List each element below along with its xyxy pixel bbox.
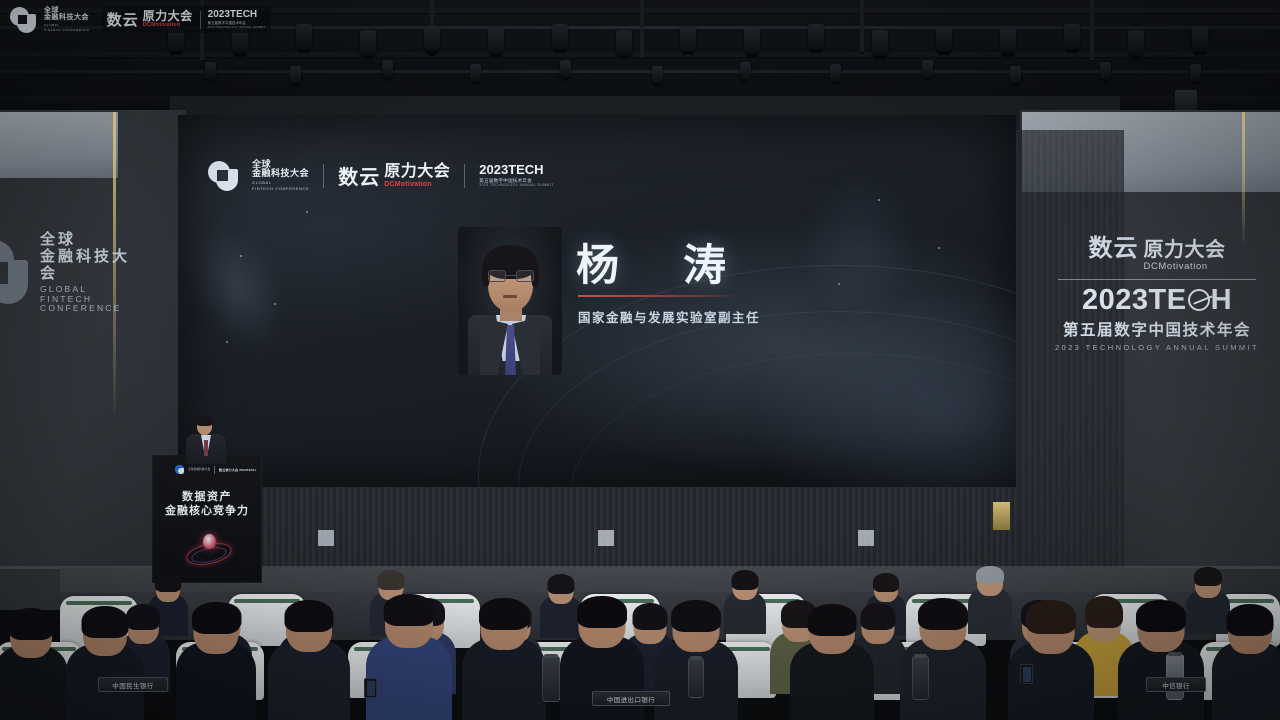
audience-member	[1212, 610, 1280, 720]
podium-gfc-mark	[175, 465, 184, 474]
podium-logo-cn: 全球金融科技大会	[188, 468, 210, 472]
right-banner-tech-main: 2023TE	[1082, 284, 1187, 317]
right-banner-tech: 2023TE H	[1082, 284, 1232, 317]
seat-name-card: 中国进出口银行	[592, 691, 670, 706]
water-bottle	[688, 658, 704, 698]
audience-member	[176, 608, 256, 720]
audience-member	[268, 606, 350, 720]
overlay-gfc-text: 全球 金融科技大会 GLOBAL FINTECH CONFERENCE	[44, 7, 90, 32]
stage-spotlight	[1128, 30, 1144, 56]
stage-spotlight	[1000, 28, 1016, 54]
stage-spotlight	[470, 64, 481, 82]
overlay-dc-sub-cn: 原力大会	[143, 10, 193, 22]
conference-hall-photo: 全球 金融科技大会 GLOBAL FINTECH CONFERENCE 数云 原…	[0, 0, 1280, 720]
tech-summit-logo: 2023TECH 第五届数字中国技术年会 2023 TECHNOLOGY ANN…	[479, 163, 553, 188]
stage-spotlight	[936, 26, 952, 52]
stage-spotlight	[488, 28, 504, 54]
gfc-logo-mark-large	[0, 240, 30, 306]
left-banner-cn1: 全球	[40, 232, 146, 249]
audience-member	[790, 610, 874, 720]
stage-spotlight	[830, 64, 841, 82]
overlay-gfc-mark	[10, 7, 36, 33]
right-banner-en-sub: DCMotivation	[1144, 262, 1226, 272]
stage-spotlight	[744, 28, 760, 54]
audience-member	[66, 612, 144, 720]
stage-spotlight	[1100, 62, 1111, 80]
seat-name-card: 中信银行	[1146, 677, 1206, 692]
gfc-en-line1: GLOBAL	[252, 181, 309, 185]
broadcast-logo-overlay: 全球 金融科技大会 GLOBAL FINTECH CONFERENCE 数云 原…	[10, 6, 271, 33]
podium-logo-secondary: 数云原力大会 2023TECH	[219, 468, 256, 472]
speaker-name: 杨 涛	[576, 231, 752, 293]
overlay-tech-en: 2023 TECHNOLOGY ANNUAL SUMMIT	[208, 27, 266, 30]
stage-spotlight	[296, 24, 312, 50]
live-speaker-at-podium	[182, 418, 230, 462]
audience-member	[366, 600, 452, 720]
gfc-logo-text: 全球 金融科技大会 GLOBAL FINTECH CONFERENCE	[252, 160, 309, 191]
dc-sub-en: DCMotivation	[384, 181, 450, 188]
stage-spotlight	[740, 62, 751, 80]
smartphone	[1020, 664, 1033, 684]
ceiling-light-panel-left	[0, 112, 118, 178]
glasses-icon	[488, 270, 534, 282]
logo-divider	[464, 164, 465, 188]
gfc-logo-mark	[208, 161, 238, 191]
gfc-cn-line2: 金融科技大会	[252, 169, 309, 178]
stage-spotlight	[872, 30, 888, 56]
audience-member	[462, 604, 546, 720]
water-bottle	[912, 656, 929, 700]
stage-spotlight	[205, 62, 216, 80]
screen-logo-bar: 全球 金融科技大会 GLOBAL FINTECH CONFERENCE 数云 原…	[208, 160, 554, 191]
overlay-en2: FINTECH CONFERENCE	[44, 29, 90, 32]
tech-year: 2023TECH	[479, 163, 553, 177]
swirl-c-icon	[1188, 289, 1210, 311]
overlay-dc-cn: 数云	[107, 9, 139, 30]
audience-area: 中国民生银行 中国进出口银行 中信银行	[0, 520, 1280, 720]
overlay-dc-sub-en: DCMotivation	[143, 23, 193, 29]
stage-spotlight	[1192, 26, 1208, 52]
right-banner-tech-tail: H	[1211, 284, 1232, 317]
stage-spotlight	[1190, 64, 1201, 82]
dc-sub-cn: 原力大会	[384, 164, 450, 180]
logo-divider	[323, 164, 324, 188]
stage-spotlight	[424, 26, 440, 52]
stage-spotlight	[1064, 24, 1080, 50]
water-bottle	[542, 656, 560, 702]
gfc-en-line2: FINTECH CONFERENCE	[252, 187, 309, 191]
right-banner-summit-cn: 第五届数字中国技术年会	[1063, 318, 1251, 340]
stage-spotlight	[616, 30, 632, 56]
left-banner-en2: FINTECH CONFERENCE	[40, 295, 146, 314]
stage-spotlight	[808, 24, 824, 50]
audience-member	[0, 614, 68, 720]
right-wall-banner: 数云 原力大会 DCMotivation 2023TE H 第五届数字中国技术年…	[1050, 228, 1264, 352]
podium-logo-row: 全球金融科技大会 数云原力大会 2023TECH	[175, 465, 256, 474]
dc-cn: 数云	[338, 161, 380, 190]
stage-spotlight	[552, 24, 568, 50]
wall-light-strip-right-a	[1242, 112, 1245, 242]
screen-nebula-left	[180, 214, 298, 363]
speaker-name-underline	[578, 295, 738, 297]
stage-spotlight	[360, 30, 376, 56]
speaker-title: 国家金融与发展实验室副主任	[578, 307, 760, 326]
seat-name-card: 中国民生银行	[98, 677, 168, 692]
audience-member	[1118, 606, 1204, 720]
podium-headline-2: 金融核心竞争力	[153, 502, 261, 518]
right-banner-summit-en: 2023 TECHNOLOGY ANNUAL SUMMIT	[1055, 343, 1259, 352]
stage-spotlight	[922, 60, 933, 78]
stage-spotlight	[1010, 66, 1021, 84]
right-banner-cn-sub: 原力大会	[1144, 240, 1226, 260]
stage-spotlight	[560, 60, 571, 78]
left-banner-cn2: 金融科技大会	[40, 249, 146, 283]
overlay-tech-year: 2023TECH	[208, 10, 266, 21]
podium-logo-divider	[214, 466, 215, 474]
main-led-screen: 全球 金融科技大会 GLOBAL FINTECH CONFERENCE 数云 原…	[178, 115, 1016, 487]
right-banner-divider	[1058, 279, 1256, 280]
tech-sub-en: 2023 TECHNOLOGY ANNUAL SUMMIT	[479, 184, 553, 188]
smartphone	[364, 678, 377, 698]
stage-spotlight	[382, 60, 393, 78]
dcmotivation-logo: 数云 原力大会 DCMotivation	[338, 161, 450, 190]
dc-sub: 原力大会 DCMotivation	[384, 164, 450, 188]
stage-spotlight	[290, 66, 301, 84]
right-banner-cn-main: 数云	[1089, 228, 1139, 263]
overlay-en1: GLOBAL	[44, 24, 90, 27]
overlay-dcmotivation-logo: 数云 原力大会 DCMotivation 2023TECH 第五届数字中国技术年…	[102, 6, 271, 33]
overlay-cn2: 金融科技大会	[44, 14, 90, 21]
speaker-portrait	[458, 227, 562, 375]
stage-spotlight	[680, 26, 696, 52]
left-wall-banner: 全球 金融科技大会 GLOBAL FINTECH CONFERENCE	[0, 218, 146, 328]
stage-spotlight	[652, 66, 663, 84]
